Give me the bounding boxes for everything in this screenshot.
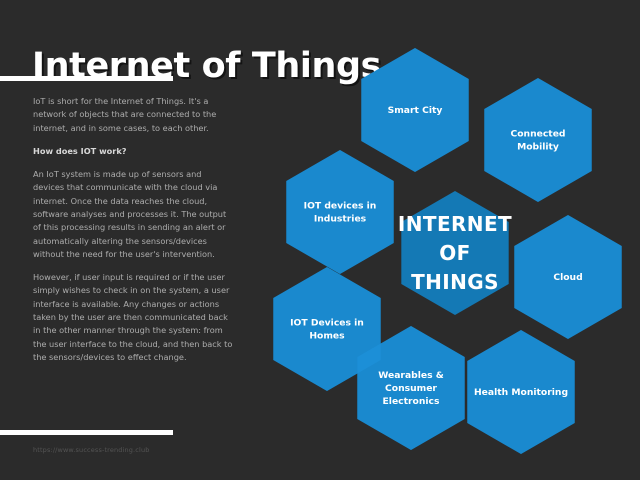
hexagon-label-wearables: Wearables &ConsumerElectronics bbox=[378, 370, 444, 407]
hexagon-diagram: Smart CityConnectedMobilityIOT devices i… bbox=[0, 0, 640, 480]
hexagon-label-health-monitoring: Health Monitoring bbox=[474, 387, 568, 398]
infographic-canvas: Internet of Things IoT is short for the … bbox=[0, 0, 640, 480]
hexagon-label-smart-city: Smart City bbox=[388, 105, 443, 116]
hexagon-diagram-svg: Smart CityConnectedMobilityIOT devices i… bbox=[0, 0, 640, 480]
hexagon-iot-industries[interactable] bbox=[286, 150, 393, 274]
hexagon-label-cloud: Cloud bbox=[553, 272, 582, 283]
hexagon-connected-mobility[interactable] bbox=[484, 78, 591, 202]
